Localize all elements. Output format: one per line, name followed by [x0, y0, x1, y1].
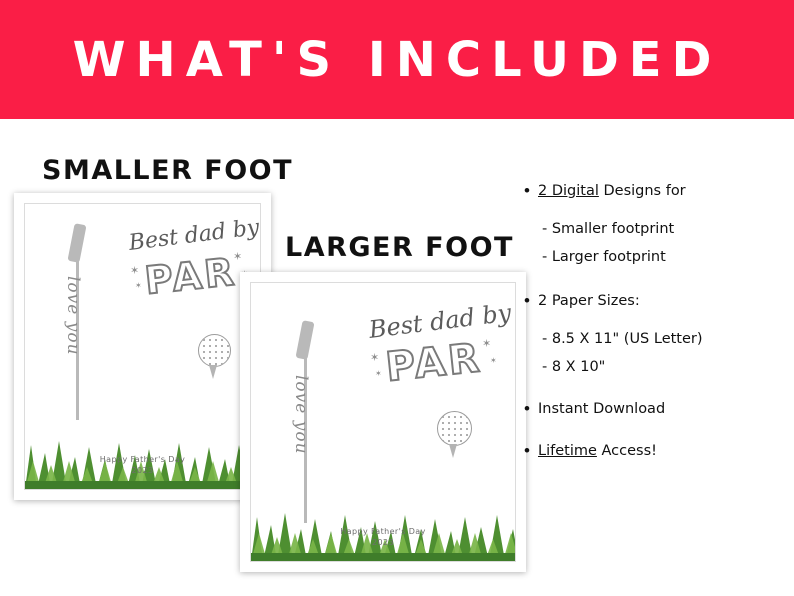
poster-caption-line2: 2023: [25, 465, 260, 477]
poster-caption-line1: Happy Father's Day: [25, 454, 260, 466]
sparkle-icon: ✶: [130, 266, 139, 277]
golf-ball-icon: [437, 411, 472, 446]
sparkle-icon: ✶: [375, 370, 382, 378]
feature-text: Instant Download: [538, 398, 665, 420]
golf-ball-dimples: [199, 335, 230, 366]
golf-tee-icon: [449, 444, 457, 458]
feature-item: • 2 Paper Sizes:: [524, 290, 784, 312]
golf-club-script-text: love you: [291, 375, 311, 455]
bullet-icon: •: [524, 180, 538, 202]
feature-text: Lifetime Access!: [538, 440, 657, 462]
sparkle-icon: ✶: [370, 353, 379, 364]
header-banner: WHAT'S INCLUDED: [0, 0, 794, 119]
golf-club-script-text: love you: [63, 276, 83, 356]
poster-caption: Happy Father's Day 2023: [25, 454, 260, 477]
golf-club-head-icon: [295, 320, 314, 360]
feature-lead: 2 Digital: [538, 183, 599, 199]
poster-headline-word: PAR: [143, 249, 239, 302]
poster-headline-word: PAR: [384, 335, 485, 391]
golf-ball-dimples: [438, 412, 471, 445]
poster-label-larger: LARGER FOOT: [285, 232, 514, 263]
features-list: • 2 Digital Designs for - Smaller footpr…: [524, 180, 784, 478]
golf-tee-icon: [209, 365, 217, 379]
feature-item: • Lifetime Access!: [524, 440, 784, 462]
poster-caption-line2: 2023: [251, 537, 515, 549]
feature-subitem: - 8.5 X 11" (US Letter): [542, 328, 784, 350]
feature-item: • 2 Digital Designs for: [524, 180, 784, 202]
feature-rest: Designs for: [599, 183, 686, 199]
feature-lead: 2 Paper Sizes:: [538, 293, 640, 309]
bullet-icon: •: [524, 440, 538, 462]
sparkle-icon: ✶: [490, 357, 497, 365]
feature-lead: Instant Download: [538, 401, 665, 417]
golf-club-head-icon: [67, 223, 86, 263]
poster-caption-line1: Happy Father's Day: [251, 526, 515, 538]
feature-rest: Access!: [597, 443, 657, 459]
poster-caption: Happy Father's Day 2023: [251, 526, 515, 549]
poster-preview-larger: Best dad by PAR ✶ ✶ ✶ ✶ love you: [240, 272, 526, 572]
poster-label-smaller: SMALLER FOOT: [42, 155, 293, 186]
feature-subitem: - Smaller footprint: [542, 218, 784, 240]
poster-headline-script: Best dad by: [127, 215, 260, 256]
golf-ball-icon: [198, 334, 231, 367]
page-title: WHAT'S INCLUDED: [73, 36, 722, 84]
sparkle-icon: ✶: [135, 282, 142, 290]
poster-preview-smaller: Best dad by PAR ✶ ✶ ✶ ✶ love you: [14, 193, 271, 500]
sparkle-icon: ✶: [482, 339, 491, 350]
sparkle-icon: ✶: [233, 252, 242, 263]
feature-subitem: - Larger footprint: [542, 246, 784, 268]
poster-inner-border: Best dad by PAR ✶ ✶ ✶ ✶ love you: [24, 203, 261, 490]
bullet-icon: •: [524, 398, 538, 420]
poster-inner-border: Best dad by PAR ✶ ✶ ✶ ✶ love you: [250, 282, 516, 562]
feature-lead: Lifetime: [538, 443, 597, 459]
feature-item: • Instant Download: [524, 398, 784, 420]
bullet-icon: •: [524, 290, 538, 312]
feature-text: 2 Paper Sizes:: [538, 290, 640, 312]
feature-text: 2 Digital Designs for: [538, 180, 686, 202]
feature-subitem: - 8 X 10": [542, 356, 784, 378]
